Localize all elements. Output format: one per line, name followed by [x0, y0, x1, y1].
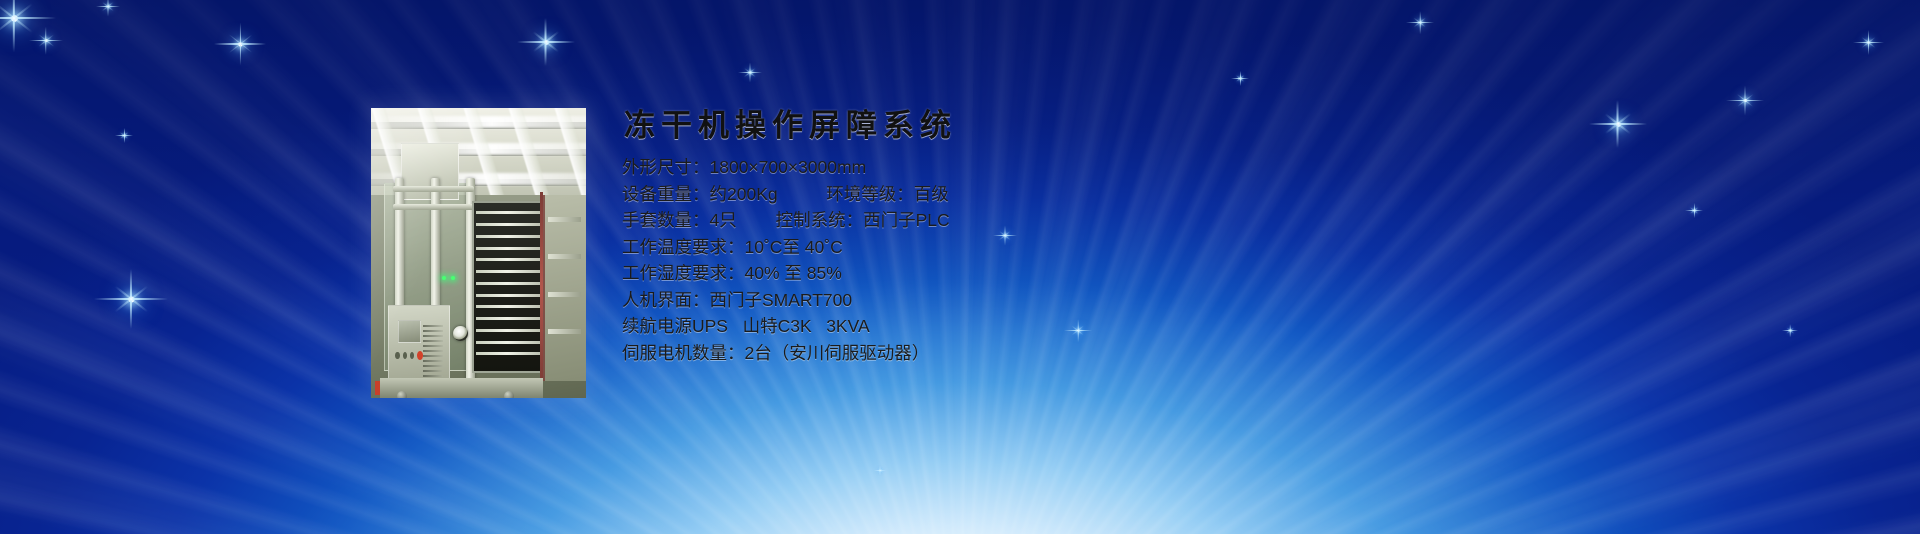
spec-line-humidity: 工作湿度要求：40% 至 85%: [622, 265, 1222, 283]
spec-line-servo-motors: 伺服电机数量：2台（安川伺服驱动器）: [622, 345, 1222, 363]
freeze-dryer-isolator-barrier-system-photo: [371, 108, 586, 398]
spec-line-temperature: 工作温度要求：10˚C至 40˚C: [622, 239, 1222, 257]
spec-line-weight-class: 设备重量：约200Kg 环境等级：百级: [622, 186, 1222, 204]
spec-line-gloves-plc: 手套数量：4只 控制系统：西门子PLC: [622, 212, 1222, 230]
text-column: 冻干机操作屏障系统 外形尺寸：1800×700×3000mm 设备重量：约200…: [622, 100, 1222, 371]
spec-line-dimensions: 外形尺寸：1800×700×3000mm: [622, 159, 1222, 177]
page-title: 冻干机操作屏障系统: [624, 100, 1222, 145]
photo-highlight-sheen: [371, 108, 586, 398]
spec-line-ups: 续航电源UPS 山特C3K 3KVA: [622, 318, 1222, 336]
product-banner: 冻干机操作屏障系统 外形尺寸：1800×700×3000mm 设备重量：约200…: [0, 0, 1920, 534]
product-photo: [371, 108, 586, 398]
spec-line-hmi: 人机界面：西门子SMART700: [622, 292, 1222, 310]
